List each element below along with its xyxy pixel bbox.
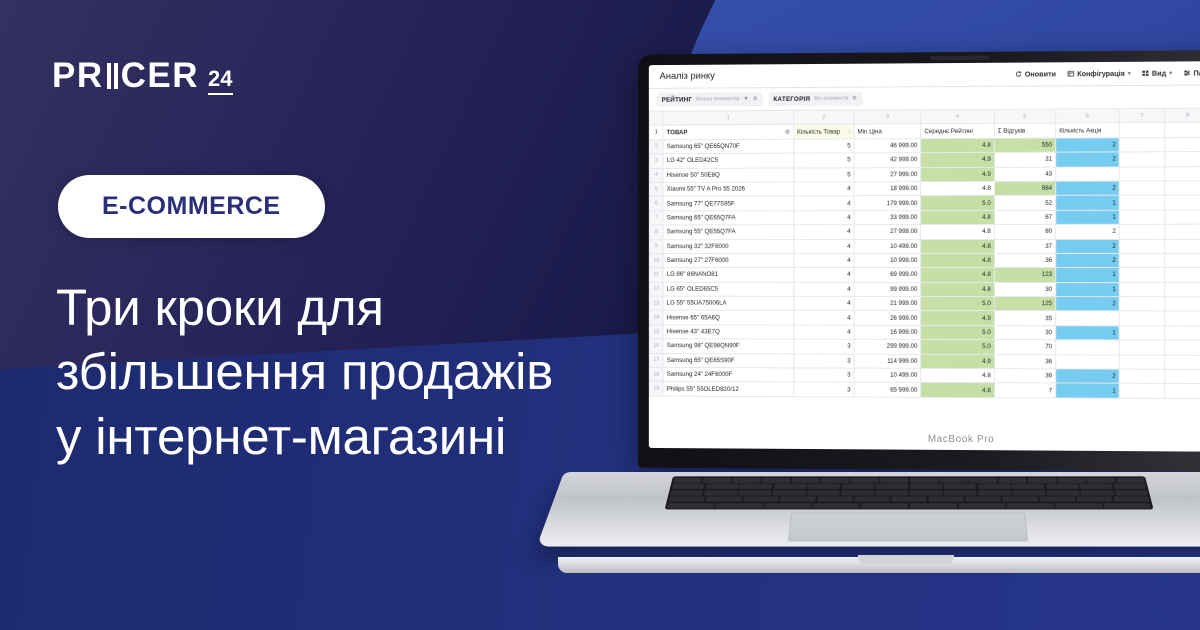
- cell-promo[interactable]: 2: [1056, 369, 1120, 384]
- cell-empty[interactable]: [1165, 297, 1200, 312]
- toolbar-parameters-button[interactable]: Параметри ▾: [1183, 68, 1200, 77]
- cell-empty[interactable]: [1165, 311, 1200, 326]
- cell-product[interactable]: LG 65" OLED65C5: [663, 282, 793, 296]
- table-row[interactable]: 19Philips 55" 55OLED820/12365 999.004.87…: [649, 382, 1200, 399]
- cell-promo[interactable]: 1: [1056, 326, 1120, 341]
- sort-desc-icon[interactable]: ↓: [848, 128, 851, 134]
- row-number: 2: [649, 140, 663, 154]
- cell-promo[interactable]: 2: [1056, 297, 1120, 312]
- funnel-icon[interactable]: ▼: [743, 96, 748, 102]
- cell-price[interactable]: 179 999.00: [854, 196, 921, 210]
- cell-empty[interactable]: [1119, 326, 1164, 341]
- cell-reviews[interactable]: 52: [994, 196, 1055, 211]
- filter-chip-category-value: Всі елементи: [814, 96, 848, 102]
- keyboard-key[interactable]: [854, 496, 890, 501]
- keyboard-key[interactable]: [910, 503, 957, 508]
- cell-rating[interactable]: 4.8: [921, 282, 994, 296]
- cell-price[interactable]: 42 999.00: [854, 153, 921, 168]
- cell-empty[interactable]: [1119, 268, 1164, 283]
- chevron-down-icon: ▾: [1169, 70, 1172, 76]
- keyboard-key[interactable]: [1045, 484, 1078, 489]
- cell-reviews[interactable]: 125: [994, 297, 1055, 312]
- cell-empty[interactable]: [1165, 268, 1200, 283]
- trackpad[interactable]: [788, 513, 1029, 542]
- table-row[interactable]: 4Hisense 50" 50E8Q527 999.004.943: [649, 166, 1200, 182]
- table-row[interactable]: 13LG 55" 55UA75006LA421 999.005.01252: [649, 296, 1200, 311]
- gear-icon[interactable]: ⚙: [753, 96, 758, 102]
- logo-bars-icon: [107, 63, 118, 89]
- cell-qty[interactable]: 3: [794, 368, 855, 383]
- header-product-label: ТОВАР: [667, 129, 688, 136]
- keyboard-key[interactable]: [965, 496, 1001, 501]
- cell-promo[interactable]: 1: [1056, 383, 1120, 398]
- app-page-title: Аналіз ринку: [660, 71, 715, 82]
- cell-qty[interactable]: 5: [794, 153, 855, 168]
- cell-qty[interactable]: 3: [794, 354, 855, 369]
- filter-chip-category[interactable]: КАТЕГОРІЯ Всі елементи ⚙: [768, 92, 862, 106]
- keyboard-key[interactable]: [738, 490, 772, 495]
- laptop-lid: Аналіз ринку Оновити Конфігурація ▾ Вид: [638, 50, 1200, 473]
- column-number[interactable]: 1: [663, 110, 793, 125]
- column-number[interactable]: 7: [1119, 108, 1164, 123]
- view-icon: [1142, 70, 1149, 77]
- keyboard-key[interactable]: [774, 484, 807, 489]
- keyboard-key[interactable]: [841, 490, 874, 495]
- cell-rating[interactable]: 4.9: [921, 354, 994, 369]
- app-toolbar: Аналіз ринку Оновити Конфігурація ▾ Вид: [649, 61, 1200, 89]
- headline-line-3: у інтернет-магазині: [56, 405, 636, 469]
- keyboard-key[interactable]: [668, 496, 705, 501]
- row-number: 8: [649, 225, 663, 239]
- cell-product[interactable]: Samsung 32" 32F6000: [663, 239, 793, 253]
- chevron-down-icon: ▾: [1128, 70, 1131, 76]
- keyboard-row: [670, 490, 1149, 495]
- cell-product[interactable]: Samsung 24" 24F6000F: [663, 367, 793, 382]
- cell-price[interactable]: 10 499.00: [854, 239, 921, 253]
- cell-qty[interactable]: 3: [794, 382, 855, 397]
- cell-rating[interactable]: 4.9: [921, 153, 994, 168]
- cell-rating[interactable]: 4.8: [921, 225, 994, 239]
- header-cell-price[interactable]: Min Ціна: [854, 124, 921, 139]
- row-number: 5: [649, 182, 663, 196]
- cell-promo[interactable]: 1: [1056, 210, 1120, 225]
- cell-rating[interactable]: 4.8: [921, 383, 994, 398]
- keyboard-key[interactable]: [1057, 477, 1086, 482]
- keyboard-key[interactable]: [861, 503, 908, 508]
- cell-empty[interactable]: [1119, 224, 1164, 239]
- keyboard-key[interactable]: [939, 477, 967, 482]
- keyboard-key[interactable]: [813, 503, 860, 508]
- cell-rating[interactable]: 5.0: [921, 196, 994, 211]
- refresh-icon: [1015, 71, 1022, 78]
- header-cell-promo[interactable]: Кількість Акція: [1056, 123, 1120, 138]
- keyboard-key[interactable]: [715, 503, 763, 508]
- cell-rating[interactable]: 4.9: [921, 311, 994, 326]
- row-number: 18: [649, 367, 663, 381]
- keyboard[interactable]: [665, 476, 1154, 509]
- cell-rating[interactable]: 4.8: [921, 268, 994, 282]
- cell-price[interactable]: 65 999.00: [854, 382, 921, 397]
- cell-reviews[interactable]: 43: [994, 167, 1055, 182]
- cell-price[interactable]: 27 999.00: [854, 167, 921, 182]
- cell-qty[interactable]: 4: [794, 253, 855, 267]
- cell-empty[interactable]: [1119, 166, 1164, 181]
- keyboard-key[interactable]: [1028, 477, 1057, 482]
- filter-chip-category-label: КАТЕГОРІЯ: [773, 95, 810, 102]
- header-qty-label: Кількість Товар: [797, 128, 840, 135]
- cell-empty[interactable]: [1165, 282, 1200, 297]
- keyboard-row: [668, 496, 1150, 501]
- filter-chip-bar: РЕЙТИНГ Кілька елементів ▼ ⚙ КАТЕГОРІЯ В…: [649, 85, 1200, 110]
- cell-reviews[interactable]: 80: [994, 225, 1055, 239]
- keyboard-key[interactable]: [704, 490, 738, 495]
- cell-rating[interactable]: 5.0: [921, 340, 994, 355]
- cell-empty[interactable]: [1165, 253, 1200, 268]
- table-row[interactable]: 6Samsung 77" QE77S95F4179 999.005.0521: [649, 195, 1200, 211]
- keyboard-key[interactable]: [876, 484, 909, 489]
- cell-qty[interactable]: 5: [794, 139, 855, 154]
- row-number: 13: [649, 296, 663, 310]
- brand-logo[interactable]: PR CER 24: [52, 58, 233, 93]
- cell-empty[interactable]: [1119, 369, 1164, 384]
- header-cell-product[interactable]: ТОВАР ⚙: [663, 125, 793, 140]
- header-cell-rating[interactable]: Середнє Рейтинг: [921, 124, 994, 139]
- keyboard-key[interactable]: [891, 496, 927, 501]
- table-row[interactable]: 14Hisense 65" 65A6Q426 999.004.935: [649, 310, 1200, 325]
- cell-qty[interactable]: 4: [794, 210, 855, 224]
- cell-reviews[interactable]: 7: [994, 383, 1055, 398]
- cell-product[interactable]: Samsung 65" QE65QN70F: [663, 139, 793, 154]
- keyboard-key[interactable]: [1076, 496, 1113, 501]
- cell-rating[interactable]: 4.8: [921, 253, 994, 267]
- cell-empty[interactable]: [1165, 326, 1200, 341]
- keyboard-key[interactable]: [1055, 503, 1103, 508]
- column-number[interactable]: 8: [1165, 108, 1200, 123]
- cell-reviews[interactable]: 884: [994, 181, 1055, 196]
- cell-price[interactable]: 46 999.00: [854, 138, 921, 153]
- cell-product[interactable]: LG 55" 55UA75006LA: [663, 296, 793, 310]
- cell-qty[interactable]: 4: [794, 196, 855, 210]
- cell-price[interactable]: 114 999.00: [854, 354, 921, 369]
- cell-product[interactable]: Samsung 65" QE65Q7FA: [663, 211, 793, 225]
- table-row[interactable]: 12LG 65" OLED65C5499 999.004.8301: [649, 282, 1200, 297]
- cell-price[interactable]: 16 999.00: [854, 325, 921, 340]
- cell-empty[interactable]: [1165, 195, 1200, 210]
- cell-empty[interactable]: [1165, 152, 1200, 167]
- table-row[interactable]: 5Xiaomi 55" TV A Pro 55 2026418 999.004.…: [649, 181, 1200, 197]
- cell-promo[interactable]: 1: [1056, 268, 1120, 282]
- cell-empty[interactable]: [1165, 239, 1200, 254]
- cell-empty[interactable]: [1119, 355, 1164, 370]
- column-number[interactable]: 3: [854, 110, 921, 125]
- keyboard-key[interactable]: [1007, 503, 1055, 508]
- cell-qty[interactable]: 4: [794, 325, 855, 339]
- keyboard-key[interactable]: [1079, 484, 1112, 489]
- cell-price[interactable]: 69 999.00: [854, 268, 921, 282]
- cell-reviews[interactable]: 35: [994, 311, 1055, 326]
- keyboard-key[interactable]: [666, 503, 714, 508]
- filter-chip-rating-label: РЕЙТИНГ: [662, 96, 693, 103]
- keyboard-key[interactable]: [998, 477, 1027, 482]
- keyboard-key[interactable]: [876, 490, 909, 495]
- keyboard-key[interactable]: [1011, 484, 1044, 489]
- app-body: РЕЙТИНГ Кілька елементів ▼ ⚙ КАТЕГОРІЯ В…: [649, 85, 1200, 452]
- gear-icon[interactable]: ⚙: [785, 128, 790, 135]
- row-number: 15: [649, 325, 663, 339]
- keyboard-key[interactable]: [910, 477, 938, 482]
- table-body: 1 ТОВАР ⚙ Кількість Товар ↓ Min Ціна: [649, 123, 1200, 399]
- cell-empty[interactable]: [1119, 282, 1164, 297]
- header-cell-empty[interactable]: [1165, 123, 1200, 138]
- keyboard-key[interactable]: [978, 490, 1011, 495]
- cell-qty[interactable]: 4: [794, 296, 855, 310]
- keyboard-key[interactable]: [1114, 490, 1148, 495]
- cell-promo[interactable]: [1056, 167, 1120, 182]
- keyboard-key[interactable]: [705, 496, 742, 501]
- toolbar-refresh-button[interactable]: Оновити: [1015, 69, 1056, 78]
- cell-price[interactable]: 33 999.00: [854, 210, 921, 224]
- cell-reviews[interactable]: 31: [994, 152, 1055, 167]
- cell-rating[interactable]: 4.8: [921, 138, 994, 153]
- table-row[interactable]: 15Hisense 43" 43E7Q416 999.005.0301: [649, 325, 1200, 341]
- row-number: 11: [649, 268, 663, 282]
- keyboard-key[interactable]: [1113, 496, 1150, 501]
- cell-reviews[interactable]: 30: [994, 325, 1055, 340]
- cell-promo[interactable]: 2: [1056, 181, 1120, 196]
- cell-price[interactable]: 99 999.00: [854, 282, 921, 296]
- cell-qty[interactable]: 4: [794, 182, 855, 196]
- cell-price[interactable]: 26 999.00: [854, 311, 921, 325]
- cell-price[interactable]: 27 999.00: [854, 225, 921, 239]
- cell-product[interactable]: Hisense 50" 50E8Q: [663, 168, 793, 183]
- keyboard-key[interactable]: [773, 490, 806, 495]
- laptop-base: [556, 460, 1200, 590]
- cell-promo[interactable]: [1056, 354, 1120, 369]
- column-number[interactable]: 6: [1056, 109, 1120, 124]
- cell-qty[interactable]: 4: [794, 239, 855, 253]
- keyboard-key[interactable]: [842, 484, 875, 489]
- column-number[interactable]: 4: [921, 109, 994, 124]
- cell-empty[interactable]: [1119, 137, 1164, 152]
- cell-empty[interactable]: [1165, 369, 1200, 384]
- cell-product[interactable]: Philips 55" 55OLED820/12: [663, 382, 793, 397]
- cell-product[interactable]: LG 42" OLED42C5: [663, 153, 793, 168]
- filter-chip-rating[interactable]: РЕЙТИНГ Кілька елементів ▼ ⚙: [657, 92, 763, 106]
- keyboard-key[interactable]: [764, 503, 812, 508]
- keyboard-key[interactable]: [958, 503, 1005, 508]
- cell-reviews[interactable]: 37: [994, 239, 1055, 253]
- header-cell-empty[interactable]: [1119, 123, 1164, 138]
- header-cell-qty[interactable]: Кількість Товар ↓: [794, 124, 855, 139]
- keyboard-key[interactable]: [944, 490, 977, 495]
- toolbar-view-label: Вид: [1152, 69, 1166, 78]
- cell-reviews[interactable]: 36: [994, 354, 1055, 369]
- cell-product[interactable]: Xiaomi 55" TV A Pro 55 2026: [663, 182, 793, 197]
- cell-promo[interactable]: [1056, 340, 1120, 355]
- cell-empty[interactable]: [1119, 239, 1164, 254]
- cell-rating[interactable]: 4.9: [921, 167, 994, 182]
- cell-reviews[interactable]: 550: [994, 138, 1055, 153]
- keyboard-key[interactable]: [705, 484, 738, 489]
- cell-reviews[interactable]: 36: [994, 369, 1055, 384]
- cell-product[interactable]: Samsung 77" QE77S95F: [663, 196, 793, 211]
- cell-qty[interactable]: 4: [794, 225, 855, 239]
- cell-product[interactable]: Hisense 65" 65A6Q: [663, 310, 793, 325]
- cell-empty[interactable]: [1119, 253, 1164, 267]
- gear-icon[interactable]: ⚙: [852, 96, 857, 102]
- keyboard-key[interactable]: [673, 477, 702, 482]
- cell-product[interactable]: Samsung 55" QE55Q7FA: [663, 225, 793, 239]
- cell-qty[interactable]: 4: [794, 268, 855, 282]
- cell-promo[interactable]: 1: [1056, 282, 1120, 297]
- keyboard-key[interactable]: [817, 496, 853, 501]
- keyboard-key[interactable]: [1080, 490, 1114, 495]
- keyboard-key[interactable]: [928, 496, 964, 501]
- cell-qty[interactable]: 4: [794, 311, 855, 325]
- cell-promo[interactable]: [1056, 311, 1120, 326]
- row-number: 6: [649, 197, 663, 211]
- cell-product[interactable]: LG 86" 86NANO81: [663, 268, 793, 282]
- keyboard-row: [671, 484, 1146, 489]
- logo-suffix: 24: [208, 68, 232, 93]
- cell-reviews[interactable]: 30: [994, 282, 1055, 296]
- headline-line-1: Три кроки для: [56, 276, 636, 340]
- cell-empty[interactable]: [1119, 210, 1164, 225]
- cell-promo[interactable]: 2: [1056, 253, 1120, 267]
- toolbar-parameters-label: Параметри: [1193, 68, 1200, 77]
- cell-empty[interactable]: [1165, 166, 1200, 181]
- cell-promo[interactable]: 1: [1056, 195, 1120, 210]
- cell-empty[interactable]: [1165, 181, 1200, 196]
- table-row[interactable]: 7Samsung 65" QE65Q7FA433 999.004.8671: [649, 210, 1200, 225]
- cell-qty[interactable]: 4: [794, 282, 855, 296]
- keyboard-key[interactable]: [1113, 484, 1147, 489]
- cell-empty[interactable]: [1119, 195, 1164, 210]
- keyboard-key[interactable]: [671, 484, 705, 489]
- laptop-mockup: Аналіз ринку Оновити Конфігурація ▾ Вид: [556, 52, 1200, 597]
- cell-product[interactable]: Samsung 27" 27F6000: [663, 253, 793, 267]
- table-row[interactable]: 9Samsung 32" 32F6000410 499.004.8372: [649, 239, 1200, 254]
- cell-product[interactable]: Samsung 98" QE98QN90F: [663, 339, 793, 354]
- keyboard-key[interactable]: [762, 477, 791, 482]
- keyboard-key[interactable]: [780, 496, 816, 501]
- cell-reviews[interactable]: 70: [994, 340, 1055, 355]
- toolbar-view-button[interactable]: Вид ▾: [1142, 69, 1172, 78]
- filter-chip-rating-value: Кілька елементів: [696, 96, 739, 102]
- cell-empty[interactable]: [1165, 384, 1200, 399]
- cell-rating[interactable]: 4.8: [921, 239, 994, 253]
- cell-reviews[interactable]: 36: [994, 253, 1055, 267]
- table-row[interactable]: 8Samsung 55" QE55Q7FA427 999.004.8802: [649, 224, 1200, 239]
- row-number: 17: [649, 353, 663, 367]
- cell-rating[interactable]: 4.8: [921, 368, 994, 383]
- category-badge-label: E-COMMERCE: [102, 192, 281, 220]
- cell-promo[interactable]: 2: [1056, 152, 1120, 167]
- cell-empty[interactable]: [1119, 311, 1164, 326]
- cell-product[interactable]: Samsung 65" QE65S90F: [663, 353, 793, 368]
- grid-area: РЕЙТИНГ Кілька елементів ▼ ⚙ КАТЕГОРІЯ В…: [649, 85, 1200, 451]
- row-number: 1: [649, 125, 663, 139]
- keyboard-key[interactable]: [944, 484, 977, 489]
- cell-empty[interactable]: [1119, 384, 1164, 399]
- cell-reviews[interactable]: 67: [994, 210, 1055, 225]
- cell-empty[interactable]: [1119, 340, 1164, 355]
- cell-rating[interactable]: 4.8: [921, 210, 994, 225]
- cell-product[interactable]: Hisense 43" 43E7Q: [663, 325, 793, 340]
- cell-empty[interactable]: [1165, 355, 1200, 370]
- keyboard-key[interactable]: [978, 484, 1011, 489]
- cell-empty[interactable]: [1165, 224, 1200, 239]
- keyboard-key[interactable]: [732, 477, 761, 482]
- header-cell-reviews[interactable]: Σ Відгуків: [994, 123, 1055, 138]
- cell-price[interactable]: 10 999.00: [854, 253, 921, 267]
- cell-empty[interactable]: [1165, 137, 1200, 152]
- cell-reviews[interactable]: 123: [994, 268, 1055, 282]
- cell-qty[interactable]: 3: [794, 339, 855, 354]
- column-number[interactable]: 2: [794, 110, 855, 125]
- keyboard-key[interactable]: [1039, 496, 1075, 501]
- logo-text-part2: CER: [121, 58, 199, 93]
- keyboard-key[interactable]: [1012, 490, 1045, 495]
- row-number: 14: [649, 310, 663, 324]
- keyboard-key[interactable]: [1116, 477, 1145, 482]
- column-number[interactable]: 5: [994, 109, 1055, 124]
- keyboard-key[interactable]: [742, 496, 778, 501]
- cell-promo[interactable]: 2: [1056, 239, 1120, 253]
- cell-rating[interactable]: 5.0: [921, 325, 994, 340]
- cell-empty[interactable]: [1119, 181, 1164, 196]
- cell-price[interactable]: 10 499.00: [854, 368, 921, 383]
- row-number: 3: [649, 154, 663, 168]
- toolbar-refresh-label: Оновити: [1025, 69, 1056, 78]
- keyboard-key[interactable]: [1103, 503, 1151, 508]
- table-row[interactable]: 11LG 86" 86NANO81469 999.004.81231: [649, 268, 1200, 283]
- cell-empty[interactable]: [1165, 340, 1200, 355]
- keyboard-key[interactable]: [1002, 496, 1038, 501]
- cell-empty[interactable]: [1119, 297, 1164, 312]
- cell-rating[interactable]: 5.0: [921, 297, 994, 311]
- cell-rating[interactable]: 4.8: [921, 181, 994, 196]
- cell-qty[interactable]: 5: [794, 167, 855, 182]
- keyboard-key[interactable]: [739, 484, 772, 489]
- cell-price[interactable]: 21 999.00: [854, 296, 921, 310]
- keyboard-key[interactable]: [821, 477, 849, 482]
- keyboard-key[interactable]: [791, 477, 820, 482]
- keyboard-key[interactable]: [880, 477, 908, 482]
- keyboard-key[interactable]: [851, 477, 879, 482]
- keyboard-key[interactable]: [910, 490, 943, 495]
- toolbar-configuration-button[interactable]: Конфігурація ▾: [1067, 69, 1131, 78]
- keyboard-key[interactable]: [969, 477, 997, 482]
- keyboard-key[interactable]: [1086, 477, 1115, 482]
- table-row[interactable]: 10Samsung 27" 27F6000410 999.004.8362: [649, 253, 1200, 268]
- row-number: 10: [649, 253, 663, 267]
- cell-price[interactable]: 18 999.00: [854, 182, 921, 197]
- cell-promo[interactable]: 2: [1056, 224, 1120, 239]
- keyboard-key[interactable]: [807, 490, 840, 495]
- keyboard-key[interactable]: [808, 484, 841, 489]
- cell-promo[interactable]: 2: [1056, 138, 1120, 153]
- keyboard-key[interactable]: [670, 490, 704, 495]
- keyboard-key[interactable]: [910, 484, 943, 489]
- logo-wordmark: PR CER: [52, 58, 199, 93]
- cell-price[interactable]: 299 999.00: [854, 339, 921, 354]
- keyboard-key[interactable]: [702, 477, 731, 482]
- row-number: 16: [649, 339, 663, 353]
- cell-empty[interactable]: [1165, 210, 1200, 225]
- cell-empty[interactable]: [1119, 152, 1164, 167]
- keyboard-key[interactable]: [1046, 490, 1080, 495]
